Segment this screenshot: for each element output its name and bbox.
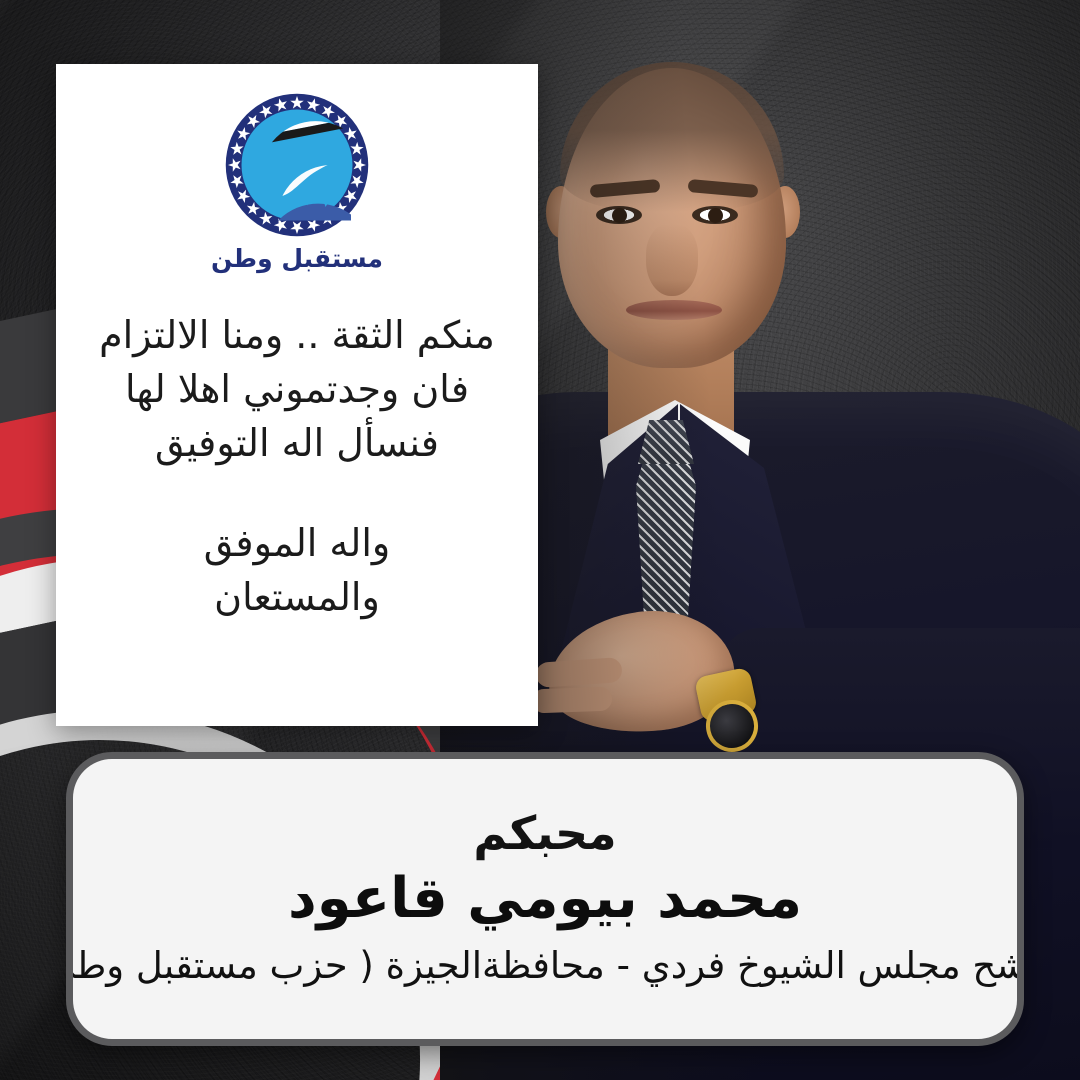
party-logo: مستقبل وطن — [211, 90, 383, 273]
candidate-name-card: محبكم محمد بيومي قاعود مرشح مجلس الشيوخ … — [66, 752, 1024, 1046]
quote-paragraph-one: منكم الثقة .. ومنا الالتزام فان وجدتموني… — [56, 309, 538, 471]
quote-paragraph-two: واله الموفق والمستعان — [56, 517, 538, 625]
campaign-poster: مستقبل وطن منكم الثقة .. ومنا الالتزام ف… — [0, 0, 1080, 1080]
quote-line: واله الموفق — [56, 517, 538, 571]
party-emblem-icon — [222, 90, 372, 240]
quote-line: فان وجدتموني اهلا لها — [56, 363, 538, 417]
party-wordmark: مستقبل وطن — [211, 244, 383, 273]
candidate-name: محمد بيومي قاعود — [288, 870, 802, 929]
greeting-text: محبكم — [473, 809, 616, 857]
candidate-role: مرشح مجلس الشيوخ فردي - محافظةالجيزة ( ح… — [66, 944, 1024, 988]
quote-line: منكم الثقة .. ومنا الالتزام — [56, 309, 538, 363]
quote-card: مستقبل وطن منكم الثقة .. ومنا الالتزام ف… — [56, 64, 538, 726]
quote-line: فنسأل اله التوفيق — [56, 417, 538, 471]
quote-line: والمستعان — [56, 571, 538, 625]
